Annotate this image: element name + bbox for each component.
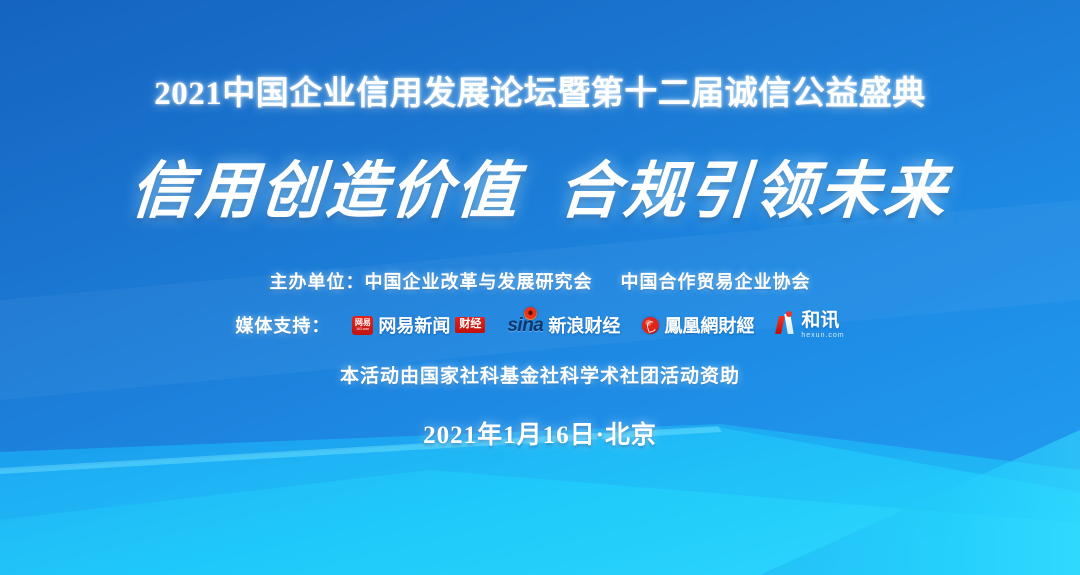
organizer-name-2: 中国合作贸易企业协会 (621, 272, 811, 292)
headline-right: 合规引领未来 (556, 140, 952, 230)
netease-mark-icon: 网易 163.com (352, 316, 373, 335)
hexun-bar-left (775, 316, 785, 334)
netease-name: 网易新闻 (378, 312, 450, 338)
hexun-dot (786, 311, 792, 317)
hexun-bar-right (785, 314, 795, 334)
organizer-name-1: 中国企业改革与发展研究会 (365, 272, 593, 292)
event-poster: 2021中国企业信用发展论坛暨第十二届诚信公益盛典 信用创造价值 合规引领未来 … (0, 0, 1080, 575)
sponsor-note: 本活动由国家社科基金社科学术社团活动资助 (340, 361, 740, 388)
media-support-row: 媒体支持： 网易 163.com 网易新闻 财经 sina 新浪财经 (235, 311, 844, 339)
netease-mark-en: 163.com (356, 327, 369, 330)
ifeng-name: 鳳凰網財經 (664, 312, 754, 338)
media-logo-sina-finance[interactable]: sina 新浪财经 (507, 312, 620, 338)
media-support-label: 媒体支持： (235, 312, 330, 338)
sina-wordmark-icon: sina (507, 316, 543, 335)
media-logo-hexun[interactable]: 和讯 hexun.com (776, 311, 844, 339)
hexun-name: 和讯 (801, 311, 844, 330)
organizer-line: 主办单位：中国企业改革与发展研究会中国合作贸易企业协会 (270, 268, 811, 294)
media-logo-ifeng-finance[interactable]: 鳳凰網財經 (642, 312, 754, 338)
poster-content: 2021中国企业信用发展论坛暨第十二届诚信公益盛典 信用创造价值 合规引领未来 … (0, 0, 1080, 575)
hexun-text-block: 和讯 hexun.com (801, 311, 844, 339)
sina-eye-icon (524, 307, 537, 320)
headline-left: 信用创造价值 (128, 140, 524, 230)
media-logo-netease-finance[interactable]: 网易 163.com 网易新闻 财经 (352, 312, 485, 338)
hexun-mark-icon (776, 314, 796, 336)
sina-name: 新浪财经 (548, 312, 620, 338)
organizer-label: 主办单位： (270, 272, 365, 292)
netease-finance-badge: 财经 (455, 317, 485, 333)
hexun-url: hexun.com (801, 332, 844, 339)
phoenix-icon (642, 317, 659, 334)
event-title: 2021中国企业信用发展论坛暨第十二届诚信公益盛典 (154, 66, 926, 114)
event-headline: 信用创造价值 合规引领未来 (128, 140, 952, 230)
event-datetime-location: 2021年1月16日·北京 (423, 415, 657, 451)
